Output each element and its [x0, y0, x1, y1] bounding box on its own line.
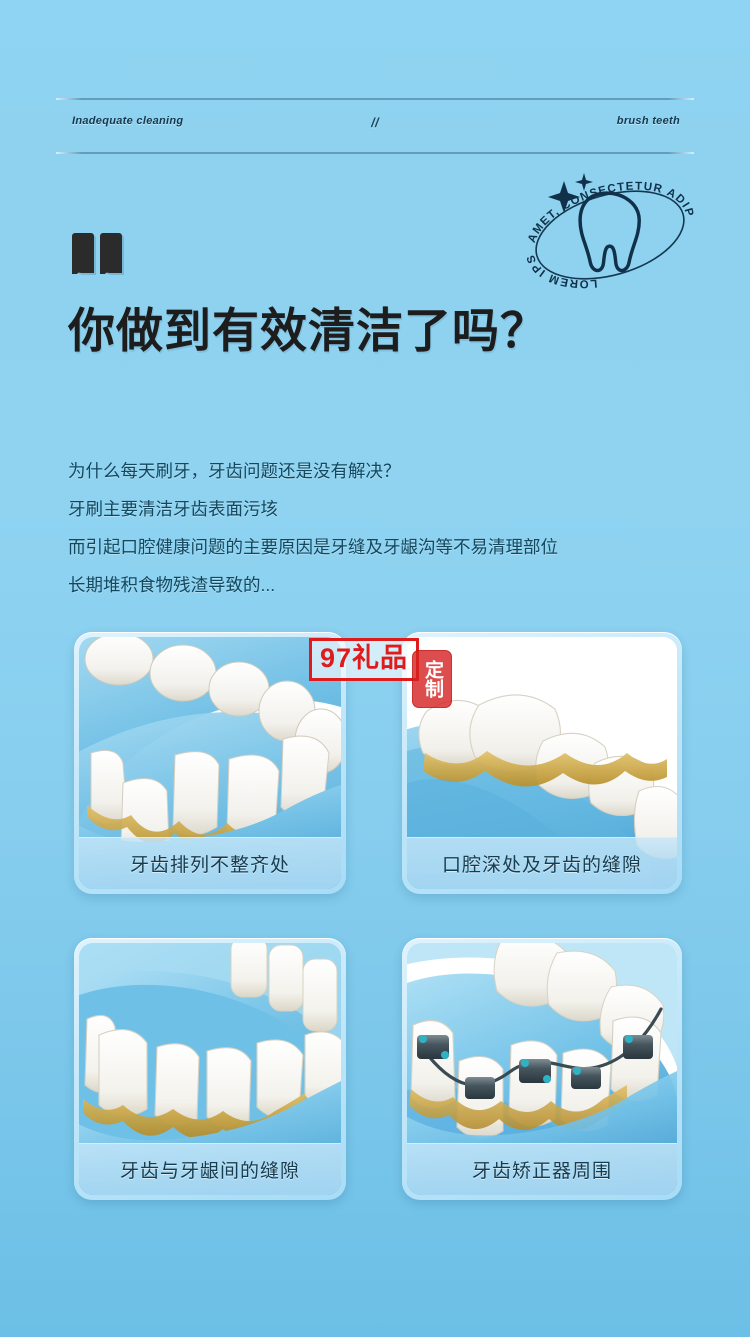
card-caption: 牙齿排列不整齐处: [79, 837, 341, 889]
quote-mark-icon: [72, 233, 132, 285]
card-image-frame: 牙齿与牙龈间的缝隙: [79, 943, 341, 1195]
header-right-label: brush teeth: [617, 115, 680, 127]
body-line-2: 牙刷主要清洁牙齿表面污垓: [68, 490, 708, 528]
tooth-icon: [580, 193, 639, 270]
card-braces[interactable]: 牙齿矫正器周围: [402, 938, 682, 1200]
body-copy: 为什么每天刷牙，牙齿问题还是没有解决？ 牙刷主要清洁牙齿表面污垓 而引起口腔健康…: [68, 452, 708, 605]
condition-card-grid: 牙齿排列不整齐处: [74, 632, 682, 1200]
card-image-frame: 牙齿矫正器周围: [407, 943, 677, 1195]
watermark-brand-box: 97礼品: [309, 638, 419, 681]
logo-ring-text-top: AMET, CONSECTETUR ADIPISCING: [518, 163, 696, 245]
tooth-orbit-logo: AMET, CONSECTETUR ADIPISCING LOREM IPSUM: [518, 163, 698, 303]
card-image-frame: 牙齿排列不整齐处: [79, 637, 341, 889]
card-caption: 牙齿矫正器周围: [407, 1143, 677, 1195]
body-line-4: 长期堆积食物残渣导致的...: [68, 566, 708, 604]
header-left-label: Inadequate cleaning: [72, 115, 183, 127]
header-rule-bottom: [56, 152, 694, 154]
watermark-custom-stamp: 定制: [412, 650, 452, 708]
body-line-1: 为什么每天刷牙，牙齿问题还是没有解决？: [68, 452, 708, 490]
card-caption: 口腔深处及牙齿的缝隙: [407, 837, 677, 889]
body-line-3: 而引起口腔健康问题的主要原因是牙缝及牙龈沟等不易清理部位: [68, 528, 708, 566]
card-crowded-teeth[interactable]: 牙齿排列不整齐处: [74, 632, 346, 894]
header-separator: //: [371, 115, 379, 130]
page-title: 你做到有效清洁了吗？: [68, 305, 688, 358]
header-rule-top: [56, 98, 694, 100]
card-gumline-gaps[interactable]: 牙齿与牙龈间的缝隙: [74, 938, 346, 1200]
product-detail-page: Inadequate cleaning // brush teeth: [0, 0, 750, 1337]
card-row-bottom: 牙齿与牙龈间的缝隙: [74, 938, 682, 1200]
header-strip: Inadequate cleaning // brush teeth: [56, 98, 694, 154]
card-caption: 牙齿与牙龈间的缝隙: [79, 1143, 341, 1195]
